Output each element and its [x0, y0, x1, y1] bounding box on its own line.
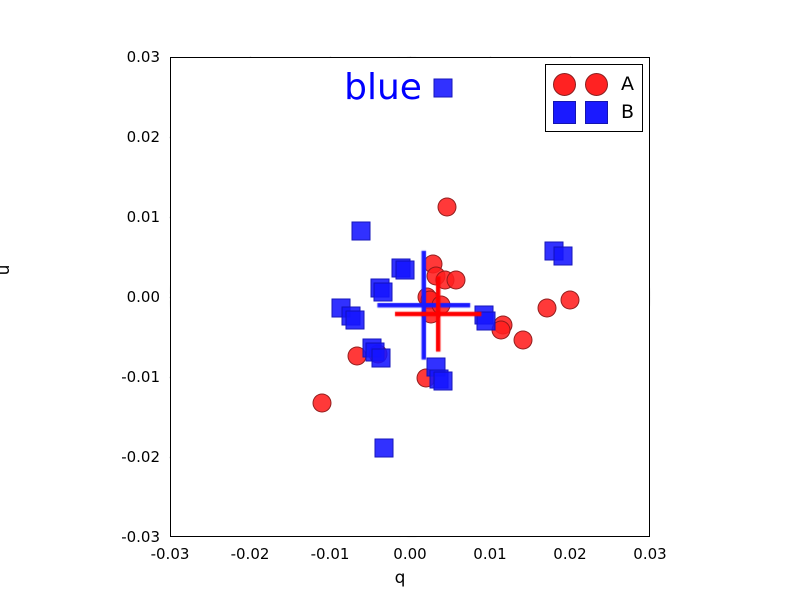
- annotation-blue-text: blue: [344, 70, 422, 106]
- legend-marker-circles: [553, 73, 608, 96]
- x-tick-label: 0.02: [553, 545, 586, 563]
- data-point-b: [395, 261, 414, 280]
- data-point-a: [514, 330, 533, 349]
- y-tick-label: -0.02: [96, 448, 160, 466]
- square-icon: [553, 101, 576, 124]
- y-tick-label: 0.03: [96, 48, 160, 66]
- x-tick-label: 0.01: [473, 545, 506, 563]
- y-tick-label: 0.01: [96, 208, 160, 226]
- data-point-b: [371, 349, 390, 368]
- x-tick-label: -0.03: [151, 545, 190, 563]
- data-point-a: [561, 290, 580, 309]
- data-point-b: [346, 311, 365, 330]
- data-point-a: [538, 298, 557, 317]
- square-icon: [585, 101, 608, 124]
- x-tick-label: 0.00: [393, 545, 426, 563]
- data-point-b: [434, 79, 453, 98]
- y-axis-label: u: [0, 265, 14, 276]
- x-tick-label: -0.02: [231, 545, 270, 563]
- y-tick-label: 0.02: [96, 128, 160, 146]
- y-tick-label: -0.03: [96, 528, 160, 546]
- x-axis-label: q: [0, 568, 800, 588]
- x-tick-label: -0.01: [311, 545, 350, 563]
- legend-entry-a[interactable]: A: [553, 70, 634, 98]
- legend-label-a: A: [621, 73, 634, 95]
- data-point-b: [352, 221, 371, 240]
- y-tick-label: -0.01: [96, 368, 160, 386]
- data-point-a: [432, 296, 451, 315]
- data-point-b: [374, 439, 393, 458]
- plot-area[interactable]: blue A B: [170, 57, 650, 537]
- legend[interactable]: A B: [545, 64, 643, 132]
- data-point-a: [438, 197, 457, 216]
- data-point-b: [477, 312, 496, 331]
- data-point-b: [554, 246, 573, 265]
- data-point-b: [374, 282, 393, 301]
- y-tick-label: 0.00: [96, 288, 160, 306]
- data-point-a: [446, 270, 465, 289]
- data-point-b: [434, 372, 453, 391]
- legend-marker-squares: [553, 101, 608, 124]
- circle-icon: [553, 73, 576, 96]
- data-point-a: [313, 393, 332, 412]
- x-tick-label: 0.03: [633, 545, 666, 563]
- legend-label-b: B: [621, 101, 634, 123]
- circle-icon: [585, 73, 608, 96]
- figure: blue A B -0.03-0.02-0.010.000.010.020.03…: [0, 0, 800, 600]
- legend-entry-b[interactable]: B: [553, 98, 634, 126]
